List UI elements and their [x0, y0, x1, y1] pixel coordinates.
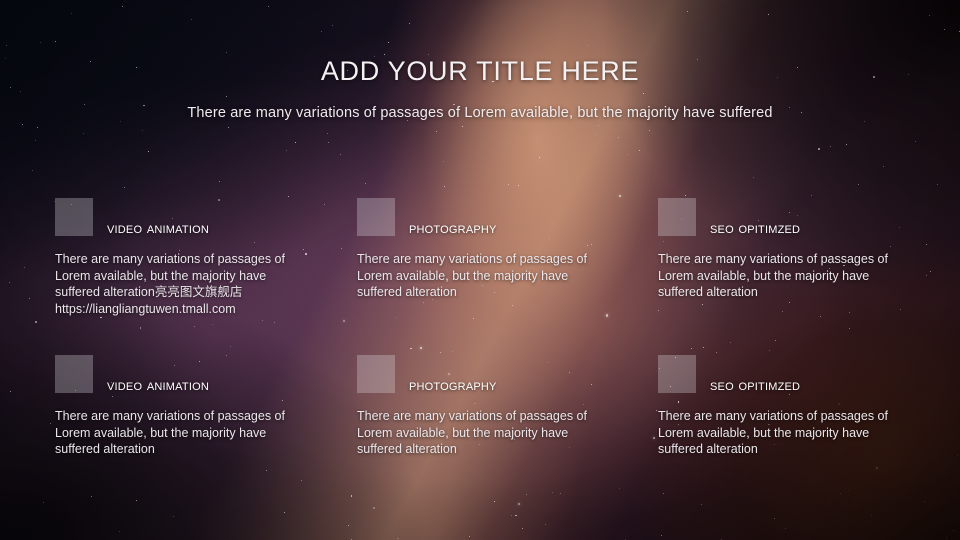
- page-subtitle: There are many variations of passages of…: [0, 105, 960, 121]
- presentation-slide: ADD YOUR TITLE HERE There are many varia…: [0, 0, 960, 540]
- image-placeholder-icon: [55, 198, 93, 236]
- feature-title: PHOTOGRAPHY: [409, 377, 497, 395]
- feature-header: PHOTOGRAPHY: [357, 355, 617, 397]
- watermark-url: https://liangliangtuwen.tmall.com: [55, 301, 307, 318]
- feature-block[interactable]: SEO OPITIMZED There are many variations …: [658, 198, 918, 301]
- feature-header: SEO OPITIMZED: [658, 198, 918, 240]
- feature-header: VIDEO ANIMATION: [55, 355, 315, 397]
- page-title: ADD YOUR TITLE HERE: [0, 56, 960, 87]
- feature-title: VIDEO ANIMATION: [107, 220, 209, 238]
- feature-body: There are many variations of passages of…: [658, 251, 910, 301]
- feature-body: There are many variations of passages of…: [55, 251, 307, 317]
- feature-body: There are many variations of passages of…: [357, 408, 609, 458]
- feature-title: PHOTOGRAPHY: [409, 220, 497, 238]
- feature-block[interactable]: PHOTOGRAPHY There are many variations of…: [357, 198, 617, 301]
- feature-body: There are many variations of passages of…: [658, 408, 910, 458]
- feature-title: SEO OPITIMZED: [710, 220, 800, 238]
- image-placeholder-icon: [55, 355, 93, 393]
- image-placeholder-icon: [357, 198, 395, 236]
- feature-title: VIDEO ANIMATION: [107, 377, 209, 395]
- image-placeholder-icon: [658, 355, 696, 393]
- feature-block[interactable]: VIDEO ANIMATION There are many variation…: [55, 198, 315, 317]
- image-placeholder-icon: [357, 355, 395, 393]
- image-placeholder-icon: [658, 198, 696, 236]
- feature-header: SEO OPITIMZED: [658, 355, 918, 397]
- watermark-text: 亮亮图文旗舰店: [155, 285, 243, 299]
- feature-title: SEO OPITIMZED: [710, 377, 800, 395]
- feature-block[interactable]: SEO OPITIMZED There are many variations …: [658, 355, 918, 458]
- feature-header: PHOTOGRAPHY: [357, 198, 617, 240]
- feature-body: There are many variations of passages of…: [357, 251, 609, 301]
- feature-header: VIDEO ANIMATION: [55, 198, 315, 240]
- feature-block[interactable]: PHOTOGRAPHY There are many variations of…: [357, 355, 617, 458]
- feature-body: There are many variations of passages of…: [55, 408, 307, 458]
- feature-block[interactable]: VIDEO ANIMATION There are many variation…: [55, 355, 315, 458]
